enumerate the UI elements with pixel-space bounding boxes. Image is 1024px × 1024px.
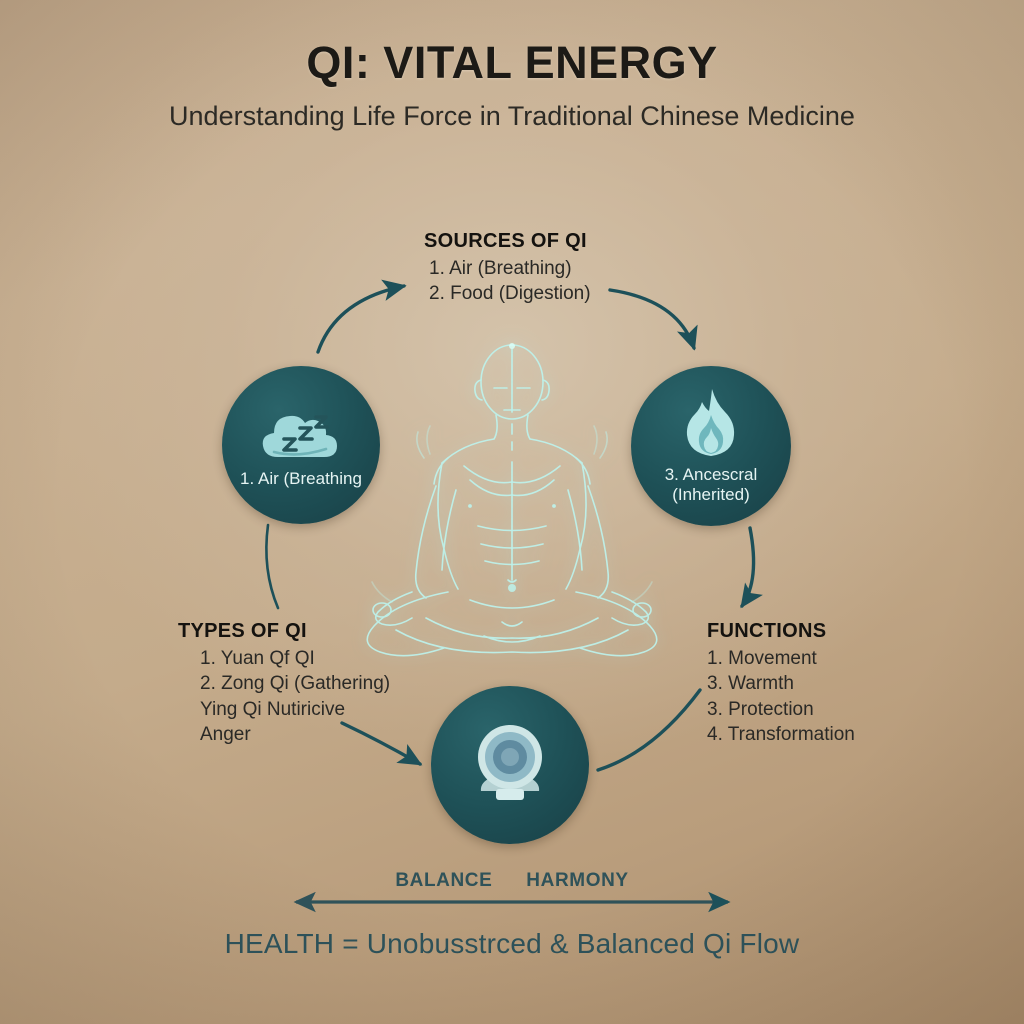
node-right-label-line1: 3. Ancescral [665,465,758,485]
sources-of-qi-block: SOURCES OF QI 1. Air (Breathing) 2. Food… [424,230,591,307]
node-right-label-line2: (Inherited) [672,485,749,505]
orb-sphere-icon [467,719,553,807]
types-line-2: 2. Zong Qi (Gathering) [178,671,390,696]
node-ancestral-inherited[interactable]: 3. Ancescral (Inherited) [631,366,791,526]
node-left-label: 1. Air (Breathing [240,469,362,489]
types-heading: TYPES OF QI [178,620,390,643]
functions-line-4: 4. Transformation [707,722,855,747]
header: QI: VITAL ENERGY Understanding Life Forc… [0,38,1024,132]
flame-icon [681,387,741,459]
node-balance-orb[interactable] [431,686,589,844]
axis-labels: BALANCE HARMONY [0,870,1024,892]
types-line-3: Ying Qi Nutiricive [178,697,390,722]
types-line-1: 1. Yuan Qf QI [178,646,390,671]
curve-left-to-types [266,525,278,608]
sources-line-1: 1. Air (Breathing) [424,256,591,281]
page-subtitle: Understanding Life Force in Traditional … [0,101,1024,132]
infographic-poster: QI: VITAL ENERGY Understanding Life Forc… [0,0,1024,1024]
arrow-sources-to-right [610,290,694,348]
types-of-qi-block: TYPES OF QI 1. Yuan Qf QI 2. Zong Qi (Ga… [178,620,390,747]
types-line-4: Anger [178,722,390,747]
sources-heading: SOURCES OF QI [424,230,591,253]
harmony-label: HARMONY [526,870,628,891]
page-title: QI: VITAL ENERGY [0,38,1024,88]
arrow-right-to-functions [742,528,754,606]
sources-line-2: 2. Food (Digestion) [424,281,591,306]
functions-line-3: 3. Protection [707,697,855,722]
balance-label: BALANCE [395,870,492,891]
curve-bottom-to-functions [598,690,700,770]
footer-equation: HEALTH = Unobusstrced & Balanced Qi Flow [0,928,1024,960]
node-air-breathing[interactable]: 1. Air (Breathing [222,366,380,524]
functions-line-1: 1. Movement [707,646,855,671]
arrow-left-to-sources [318,286,404,352]
sleeping-cloud-icon [258,401,344,467]
functions-block: FUNCTIONS 1. Movement 3. Warmth 3. Prote… [707,620,855,747]
functions-heading: FUNCTIONS [707,620,855,643]
functions-line-2: 3. Warmth [707,671,855,696]
